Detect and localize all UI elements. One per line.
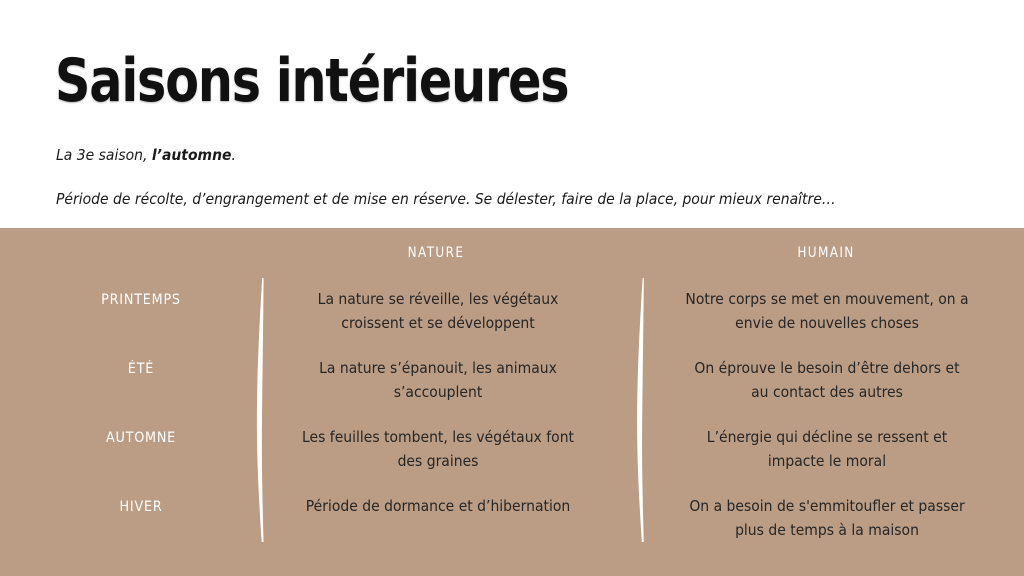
cell-humain-hiver: On a besoin de s'emmitoufler et passer p…	[684, 494, 970, 542]
season-label-ete: ÉTÉ	[53, 361, 229, 377]
subtitle-season-suffix: .	[231, 146, 235, 164]
cell-nature-automne: Les feuilles tombent, les végétaux font …	[299, 425, 578, 473]
subtitle-description: Période de récolte, d’engrangement et de…	[56, 190, 836, 208]
seasons-table-panel: NATURE HUMAIN PRINTEMPS La nature se rév…	[0, 228, 1024, 576]
season-label-automne: AUTOMNE	[53, 430, 229, 446]
brush-stroke-divider-right-icon	[620, 278, 660, 542]
slide: Saisons intérieures La 3e saison, l’auto…	[0, 0, 1024, 576]
cell-humain-automne: L’énergie qui décline se ressent et impa…	[684, 425, 970, 473]
season-label-hiver: HIVER	[53, 499, 229, 515]
cell-nature-ete: La nature s’épanouit, les animaux s’acco…	[299, 356, 578, 404]
cell-nature-printemps: La nature se réveille, les végétaux croi…	[299, 287, 578, 335]
subtitle-season-emphasis: l’automne	[152, 146, 232, 164]
cell-nature-hiver: Période de dormance et d’hibernation	[299, 494, 578, 518]
subtitle-season-prefix: La 3e saison,	[56, 146, 152, 164]
subtitle-season: La 3e saison, l’automne.	[56, 146, 236, 164]
season-label-printemps: PRINTEMPS	[53, 292, 229, 308]
column-header-nature: NATURE	[350, 245, 522, 261]
page-title: Saisons intérieures	[55, 50, 568, 113]
cell-humain-ete: On éprouve le besoin d’être dehors et au…	[684, 356, 970, 404]
slide-header: Saisons intérieures La 3e saison, l’auto…	[0, 0, 1024, 228]
cell-humain-printemps: Notre corps se met en mouvement, on a en…	[684, 287, 970, 335]
column-header-humain: HUMAIN	[740, 245, 912, 261]
brush-stroke-divider-left-icon	[240, 278, 280, 542]
